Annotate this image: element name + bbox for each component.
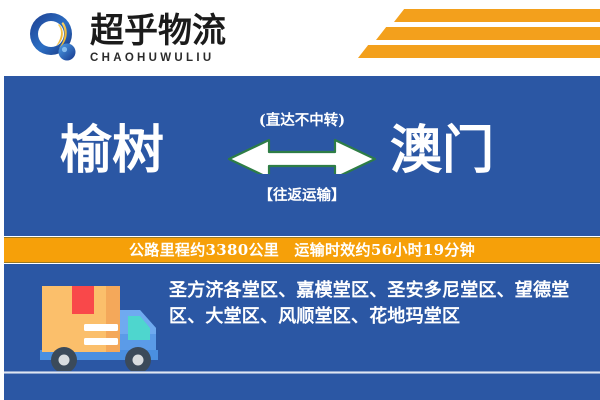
delivery-truck-icon [28, 276, 168, 376]
route-row: 榆树 (直达不中转) 【往返运输】 澳门 [4, 76, 600, 236]
stripe-2 [376, 27, 600, 40]
destination-city: 澳门 [390, 120, 494, 182]
stripe-1 [394, 9, 600, 22]
distance-duration-banner: 公路里程约3380公里 运输时效约56小时19分钟 [4, 237, 600, 263]
round-trip-note: 【往返运输】 [222, 187, 382, 205]
bottom-divider [4, 371, 600, 374]
brand-name-en: CHAOHUWULIU [90, 51, 320, 65]
double-headed-arrow-icon [222, 134, 382, 179]
route-middle-block: (直达不中转) 【往返运输】 [222, 112, 382, 205]
brand-name-cn: 超乎物流 [90, 12, 320, 50]
coverage-panel: 圣方济各堂区、嘉模堂区、圣安多尼堂区、望德堂区、大堂区、风顺堂区、花地玛堂区 [4, 264, 600, 400]
distance-duration-text: 公路里程约3380公里 运输时效约56小时19分钟 [129, 241, 475, 259]
brand-name-block: 超乎物流 CHAOHUWULIU [90, 12, 320, 65]
poster-header: 超乎物流 CHAOHUWULIU [0, 0, 600, 72]
coverage-districts-text: 圣方济各堂区、嘉模堂区、圣安多尼堂区、望德堂区、大堂区、风顺堂区、花地玛堂区 [169, 278, 594, 330]
route-panel: 榆树 (直达不中转) 【往返运输】 澳门 [4, 76, 600, 236]
origin-city: 榆树 [60, 120, 164, 182]
brand-logo: 超乎物流 CHAOHUWULIU [26, 8, 326, 68]
stripe-3 [358, 45, 600, 58]
header-stripes-decoration [340, 6, 600, 64]
direct-shipping-note: (直达不中转) [222, 112, 382, 130]
logistics-route-poster: 超乎物流 CHAOHUWULIU 榆树 (直达不中转) 【往返运输】 [0, 0, 600, 400]
circle-crescent-logo-icon [26, 10, 82, 66]
